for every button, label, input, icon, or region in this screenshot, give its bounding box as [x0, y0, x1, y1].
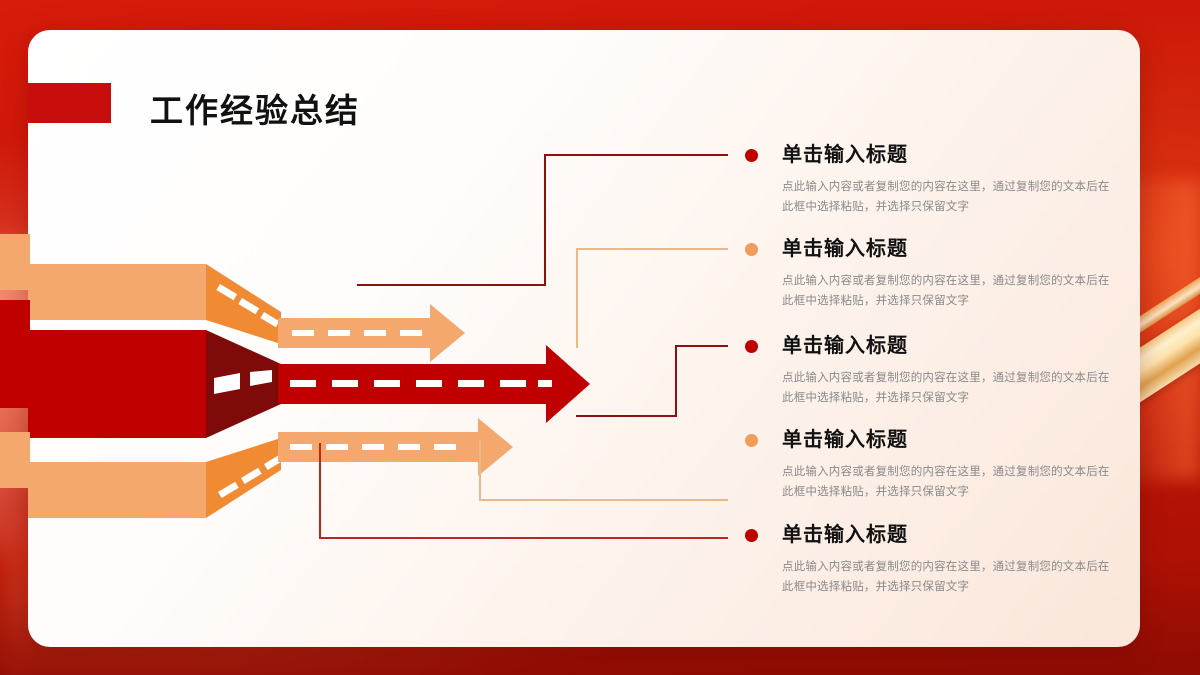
- connector-line-4: [480, 440, 728, 500]
- item-heading-5: 单击输入标题: [754, 522, 1114, 548]
- bullet-dot-2: [745, 243, 758, 256]
- bullet-dot-5: [745, 529, 758, 542]
- road-bleed-top: [0, 234, 30, 290]
- bullet-dot-1: [745, 149, 758, 162]
- list-item-3[interactable]: 单击输入标题 点此输入内容或者复制您的内容在这里，通过复制您的文本后在此框中选择…: [754, 333, 1114, 408]
- connector-line-5: [320, 443, 728, 538]
- list-item-1[interactable]: 单击输入标题 点此输入内容或者复制您的内容在这里，通过复制您的文本后在此框中选择…: [754, 142, 1114, 217]
- list-item-5[interactable]: 单击输入标题 点此输入内容或者复制您的内容在这里，通过复制您的文本后在此框中选择…: [754, 522, 1114, 597]
- list-item-2[interactable]: 单击输入标题 点此输入内容或者复制您的内容在这里，通过复制您的文本后在此框中选择…: [754, 236, 1114, 311]
- bullet-dot-3: [745, 340, 758, 353]
- road-bleed-middle: [0, 300, 30, 408]
- item-heading-4: 单击输入标题: [754, 427, 1114, 453]
- list-item-4[interactable]: 单击输入标题 点此输入内容或者复制您的内容在这里，通过复制您的文本后在此框中选择…: [754, 427, 1114, 502]
- item-heading-1: 单击输入标题: [754, 142, 1114, 168]
- connector-line-3: [576, 345, 648, 374]
- page-title: 工作经验总结: [150, 84, 360, 132]
- bullet-dot-4: [745, 434, 758, 447]
- connector-line-3b: [576, 346, 728, 416]
- slide-canvas: 工作经验总结: [0, 0, 1200, 675]
- item-body-5: 点此输入内容或者复制您的内容在这里，通过复制您的文本后在此框中选择粘贴，并选择只…: [754, 557, 1112, 597]
- item-body-2: 点此输入内容或者复制您的内容在这里，通过复制您的文本后在此框中选择粘贴，并选择只…: [754, 271, 1112, 311]
- item-body-3: 点此输入内容或者复制您的内容在这里，通过复制您的文本后在此框中选择粘贴，并选择只…: [754, 368, 1112, 408]
- item-heading-2: 单击输入标题: [754, 236, 1114, 262]
- item-list: 单击输入标题 点此输入内容或者复制您的内容在这里，通过复制您的文本后在此框中选择…: [754, 30, 1134, 647]
- connector-line-1: [357, 155, 728, 285]
- content-card: 工作经验总结: [28, 30, 1140, 647]
- connector-line-2: [577, 249, 728, 348]
- item-body-1: 点此输入内容或者复制您的内容在这里，通过复制您的文本后在此框中选择粘贴，并选择只…: [754, 177, 1112, 217]
- item-body-4: 点此输入内容或者复制您的内容在这里，通过复制您的文本后在此框中选择粘贴，并选择只…: [754, 462, 1112, 502]
- item-heading-3: 单击输入标题: [754, 333, 1114, 359]
- title-accent-badge: [28, 83, 111, 123]
- road-bleed-bottom: [0, 432, 30, 488]
